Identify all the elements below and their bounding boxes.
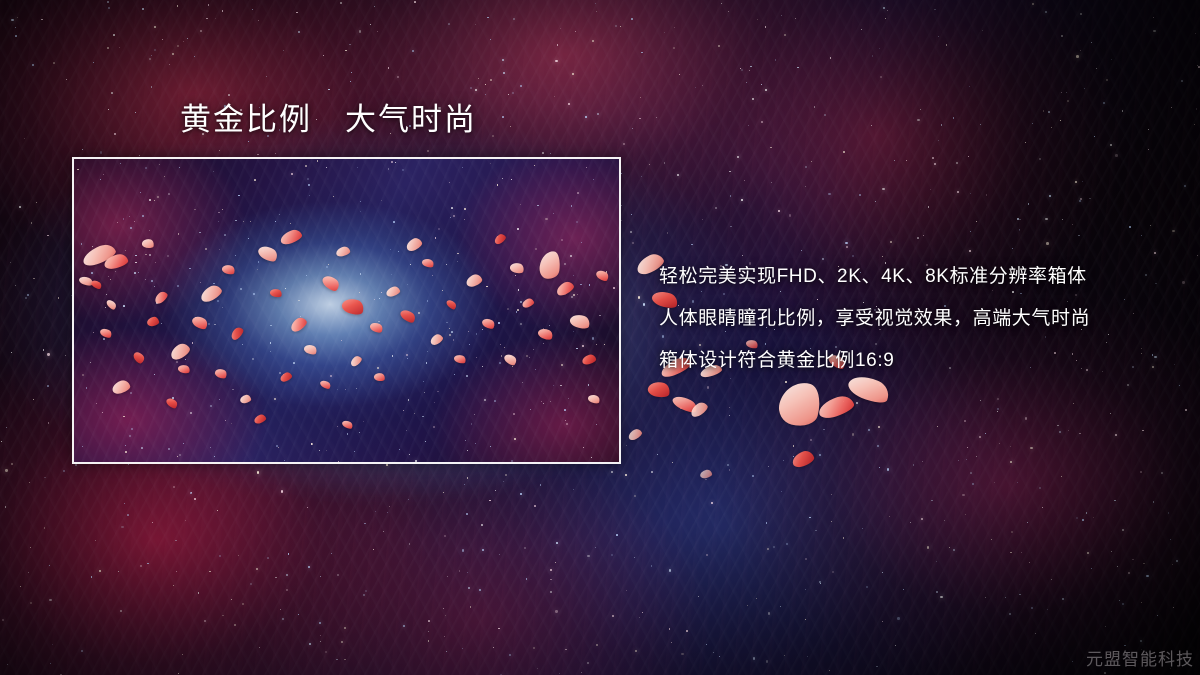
- preview-image-frame[interactable]: [72, 157, 621, 464]
- presentation-slide: 黄金比例 大气时尚 轻松完美实现FHD、2K、4K、8K标准分辨率箱体 人体眼睛…: [0, 0, 1200, 675]
- body-copy-block: 轻松完美实现FHD、2K、4K、8K标准分辨率箱体 人体眼睛瞳孔比例，享受视觉效…: [659, 256, 1179, 382]
- body-line-1: 轻松完美实现FHD、2K、4K、8K标准分辨率箱体: [659, 256, 1179, 298]
- watermark: 元盟智能科技: [1086, 649, 1194, 671]
- page-title: 黄金比例 大气时尚: [180, 101, 477, 139]
- preview-wisp-texture: [74, 159, 619, 462]
- body-line-3: 箱体设计符合黄金比例16:9: [659, 340, 1179, 382]
- body-line-2: 人体眼睛瞳孔比例，享受视觉效果，高端大气时尚: [659, 298, 1179, 340]
